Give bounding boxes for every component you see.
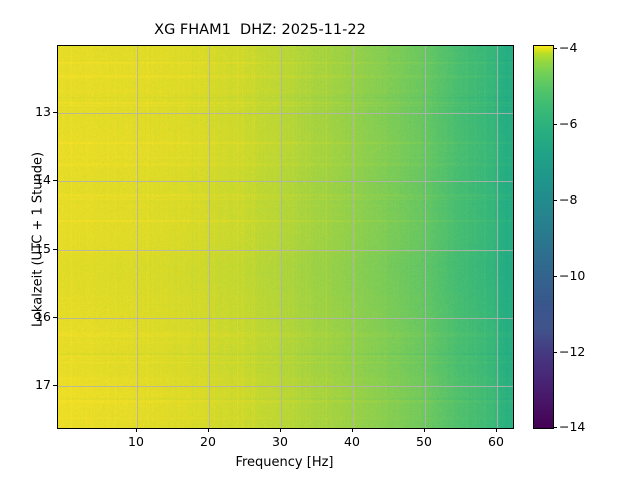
- colorbar-tick-label: −12: [559, 344, 585, 359]
- x-tick-label: 50: [404, 434, 444, 449]
- figure-title: XG FHAM1 DHZ: 2025-11-22: [0, 22, 520, 38]
- x-tick-label: 30: [260, 434, 300, 449]
- y-tick-label: 13: [11, 104, 51, 119]
- x-axis-label: Frequency [Hz]: [57, 455, 512, 470]
- colorbar-tick-label: −14: [559, 419, 585, 434]
- x-tick-label: 20: [188, 434, 228, 449]
- colorbar-tick: [553, 352, 557, 353]
- colorbar-tick: [553, 124, 557, 125]
- x-tick: [280, 428, 281, 432]
- colorbar-tick-label: −8: [559, 192, 577, 207]
- colorbar-tick: [553, 427, 557, 428]
- colorbar-tick-label: −4: [559, 40, 577, 55]
- colorbar-tick: [553, 276, 557, 277]
- x-tick: [136, 428, 137, 432]
- colorbar-tick: [553, 48, 557, 49]
- x-tick-label: 60: [476, 434, 516, 449]
- x-tick: [424, 428, 425, 432]
- x-tick: [352, 428, 353, 432]
- x-tick: [208, 428, 209, 432]
- x-tick: [496, 428, 497, 432]
- y-tick: [53, 112, 57, 113]
- spectrogram-plot-area[interactable]: [57, 45, 514, 429]
- colorbar[interactable]: [533, 45, 554, 429]
- y-tick: [53, 180, 57, 181]
- y-tick-label: 17: [11, 377, 51, 392]
- x-tick-label: 40: [332, 434, 372, 449]
- y-axis-label: Lokalzeit (UTC + 1 Stunde): [31, 135, 46, 345]
- colorbar-tick-label: −6: [559, 116, 577, 131]
- spectrogram-image: [58, 46, 513, 428]
- y-tick: [53, 317, 57, 318]
- x-tick-label: 10: [116, 434, 156, 449]
- spectrogram-figure: XG FHAM1 DHZ: 2025-11-22 102030405060 13…: [0, 0, 640, 480]
- y-tick: [53, 385, 57, 386]
- colorbar-tick: [553, 200, 557, 201]
- colorbar-tick-label: −10: [559, 268, 585, 283]
- y-tick: [53, 249, 57, 250]
